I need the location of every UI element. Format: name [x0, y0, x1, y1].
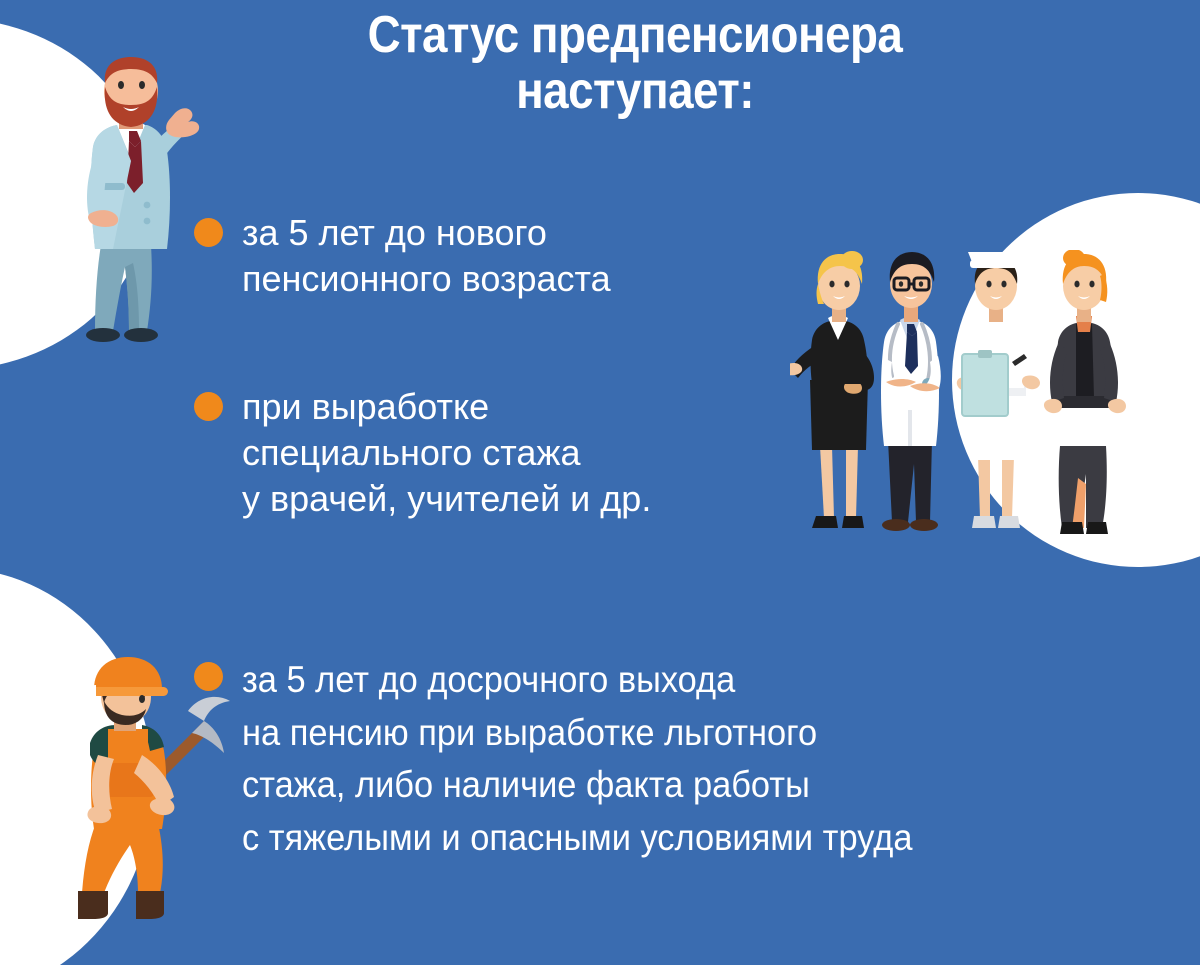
bullet-item-3-text: за 5 лет до досрочного выхода на пенсию …: [242, 654, 912, 864]
bullet-dot-icon: [194, 392, 223, 421]
bullet-3-line-2: на пенсию при выработке льготного: [242, 707, 912, 760]
infographic-canvas: Статус предпенсионера наступает: за 5 ле…: [0, 0, 1200, 965]
bullet-item-2: при выработке специального стажа у враче…: [194, 384, 651, 522]
bullet-3-line-4: с тяжелыми и опасными условиями труда: [242, 812, 912, 865]
bullet-2-line-1: при выработке: [242, 384, 651, 430]
bullet-item-1-text: за 5 лет до нового пенсионного возраста: [242, 210, 611, 302]
bullet-1-line-1: за 5 лет до нового: [242, 210, 611, 256]
bullet-item-3: за 5 лет до досрочного выхода на пенсию …: [194, 654, 963, 864]
bullet-3-line-1: за 5 лет до досрочного выхода: [242, 654, 912, 707]
bullet-1-line-2: пенсионного возраста: [242, 256, 611, 302]
bullet-dot-icon: [194, 218, 223, 247]
bullet-2-line-3: у врачей, учителей и др.: [242, 476, 651, 522]
bullet-item-2-text: при выработке специального стажа у враче…: [242, 384, 651, 522]
bullet-list: за 5 лет до нового пенсионного возраста …: [0, 0, 1200, 965]
bullet-3-line-3: стажа, либо наличие факта работы: [242, 759, 912, 812]
bullet-2-line-2: специального стажа: [242, 430, 651, 476]
bullet-dot-icon: [194, 662, 223, 691]
bullet-item-1: за 5 лет до нового пенсионного возраста: [194, 210, 611, 302]
